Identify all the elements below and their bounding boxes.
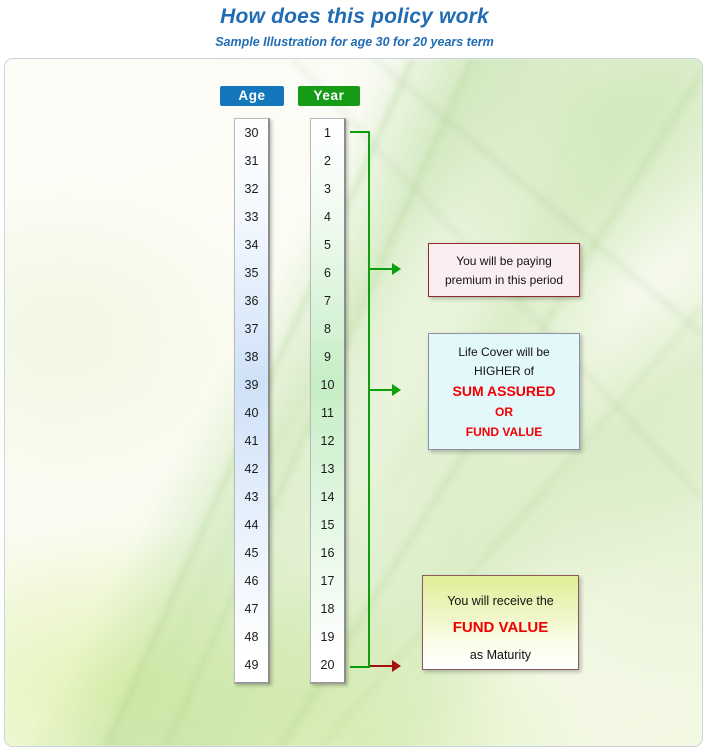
- life-cover-sum-assured: SUM ASSURED: [429, 381, 579, 402]
- bracket-bottom-stub: [350, 666, 370, 668]
- premium-callout-line-2: premium in this period: [429, 271, 579, 290]
- year-cell: 6: [311, 259, 344, 287]
- maturity-arrow-icon: [392, 660, 401, 672]
- year-cell: 3: [311, 175, 344, 203]
- age-cell: 36: [235, 287, 268, 315]
- life-cover-fund-value: FUND VALUE: [429, 422, 579, 442]
- year-cell: 5: [311, 231, 344, 259]
- maturity-arrow-line: [370, 665, 394, 667]
- life-cover-line-1: Life Cover will be: [429, 343, 579, 362]
- cover-arrow-line: [370, 389, 394, 391]
- age-cell: 40: [235, 399, 268, 427]
- year-cell: 4: [311, 203, 344, 231]
- age-cell: 35: [235, 259, 268, 287]
- premium-arrow-icon: [392, 263, 401, 275]
- year-cell: 8: [311, 315, 344, 343]
- age-cell: 48: [235, 623, 268, 651]
- year-cell: 14: [311, 483, 344, 511]
- age-cell: 45: [235, 539, 268, 567]
- year-cell: 10: [311, 371, 344, 399]
- year-cell: 11: [311, 399, 344, 427]
- year-cell: 20: [311, 651, 344, 679]
- bracket-vertical-line: [368, 131, 370, 668]
- age-cell: 47: [235, 595, 268, 623]
- age-cell: 41: [235, 427, 268, 455]
- year-column-header: Year: [298, 86, 360, 106]
- maturity-fund-value: FUND VALUE: [423, 613, 578, 643]
- maturity-callout-box: You will receive the FUND VALUE as Matur…: [422, 575, 579, 670]
- age-cell: 37: [235, 315, 268, 343]
- age-cell: 44: [235, 511, 268, 539]
- premium-arrow-line: [370, 268, 394, 270]
- age-column-header: Age: [220, 86, 284, 106]
- age-cell: 43: [235, 483, 268, 511]
- cover-arrow-icon: [392, 384, 401, 396]
- age-cell: 32: [235, 175, 268, 203]
- year-cell: 1: [311, 119, 344, 147]
- age-cell: 49: [235, 651, 268, 679]
- age-cell: 39: [235, 371, 268, 399]
- year-cell: 16: [311, 539, 344, 567]
- life-cover-callout-box: Life Cover will be HIGHER of SUM ASSURED…: [428, 333, 580, 450]
- maturity-line-1: You will receive the: [423, 589, 578, 613]
- year-cell: 18: [311, 595, 344, 623]
- year-cell: 2: [311, 147, 344, 175]
- year-column: 1 2 3 4 5 6 7 8 9 10 11 12 13 14 15 16 1…: [310, 118, 346, 684]
- year-cell: 17: [311, 567, 344, 595]
- year-cell: 19: [311, 623, 344, 651]
- maturity-line-3: as Maturity: [423, 643, 578, 667]
- foliage-streaks-overlay: [5, 59, 702, 746]
- age-cell: 33: [235, 203, 268, 231]
- premium-callout-box: You will be paying premium in this perio…: [428, 243, 580, 297]
- premium-callout-line-1: You will be paying: [429, 252, 579, 271]
- year-cell: 13: [311, 455, 344, 483]
- age-cell: 42: [235, 455, 268, 483]
- year-cell: 7: [311, 287, 344, 315]
- age-cell: 34: [235, 231, 268, 259]
- age-cell: 30: [235, 119, 268, 147]
- age-cell: 31: [235, 147, 268, 175]
- illustration-panel: [4, 58, 703, 747]
- life-cover-line-2: HIGHER of: [429, 362, 579, 381]
- age-column: 30 31 32 33 34 35 36 37 38 39 40 41 42 4…: [234, 118, 270, 684]
- page-header: How does this policy work Sample Illustr…: [0, 0, 709, 58]
- year-cell: 9: [311, 343, 344, 371]
- page-title: How does this policy work: [0, 0, 709, 29]
- year-cell: 15: [311, 511, 344, 539]
- year-cell: 12: [311, 427, 344, 455]
- age-cell: 46: [235, 567, 268, 595]
- bracket-top-stub: [350, 131, 370, 133]
- page-subtitle: Sample Illustration for age 30 for 20 ye…: [0, 29, 709, 49]
- life-cover-or: OR: [429, 402, 579, 422]
- age-cell: 38: [235, 343, 268, 371]
